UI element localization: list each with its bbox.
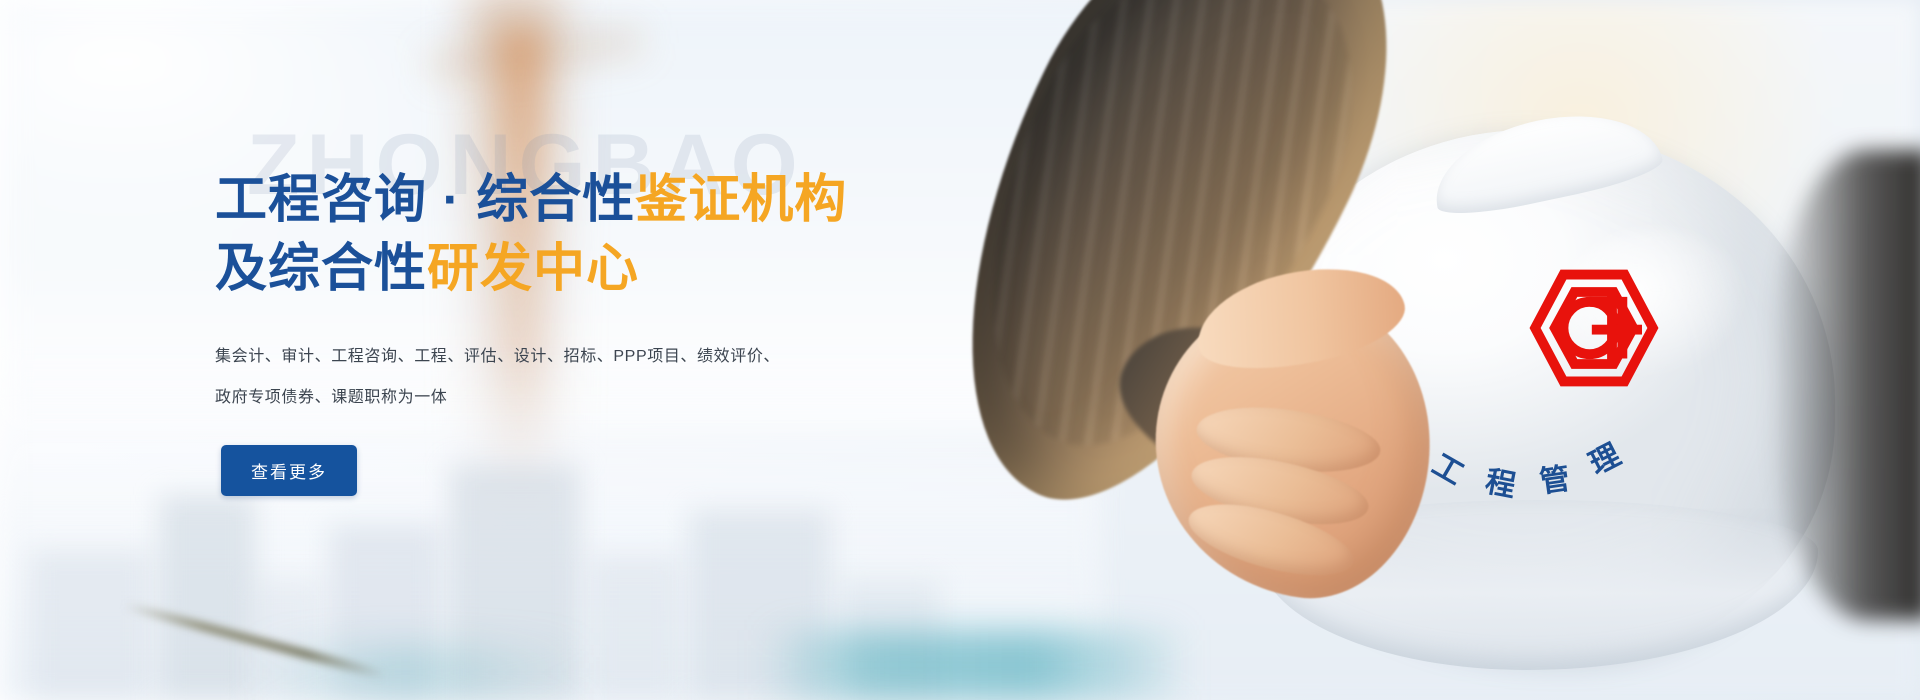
zhongbao-hexagon-logo-icon — [1528, 268, 1660, 388]
hero-description: 集会计、审计、工程咨询、工程、评估、设计、招标、PPP项目、绩效评价、 政府专项… — [215, 337, 815, 419]
hero-banner: 中宝工程管理 ZHONGBAO 工程咨询 · 综合性鉴证 — [0, 0, 1920, 700]
headline-line-2: 及综合性研发中心 — [215, 235, 1035, 304]
headline-line-2-accent: 研发中心 — [427, 240, 639, 298]
headline-line-1-accent: 鉴证机构 — [635, 171, 847, 229]
hero-content: ZHONGBAO 工程咨询 · 综合性鉴证机构 及综合性研发中心 集会计、审计、… — [215, 118, 1035, 496]
hard-hat-brand-char: 工 — [1427, 450, 1468, 491]
view-more-button[interactable]: 查看更多 — [221, 445, 357, 496]
hero-headline: 工程咨询 · 综合性鉴证机构 及综合性研发中心 — [215, 166, 1035, 303]
description-line-2: 政府专项债券、课题职称为一体 — [215, 378, 815, 419]
headline-line-2-main: 及综合性 — [215, 240, 427, 298]
description-line-1: 集会计、审计、工程咨询、工程、评估、设计、招标、PPP项目、绩效评价、 — [215, 337, 815, 378]
hard-hat-brand-char: 程 — [1483, 467, 1518, 502]
hard-hat-brand-char: 管 — [1538, 464, 1572, 498]
hard-hat-brand-char: 理 — [1585, 440, 1625, 480]
headline-line-1: 工程咨询 · 综合性鉴证机构 — [215, 166, 1035, 235]
headline-line-1-main: 工程咨询 · 综合性 — [215, 171, 635, 229]
